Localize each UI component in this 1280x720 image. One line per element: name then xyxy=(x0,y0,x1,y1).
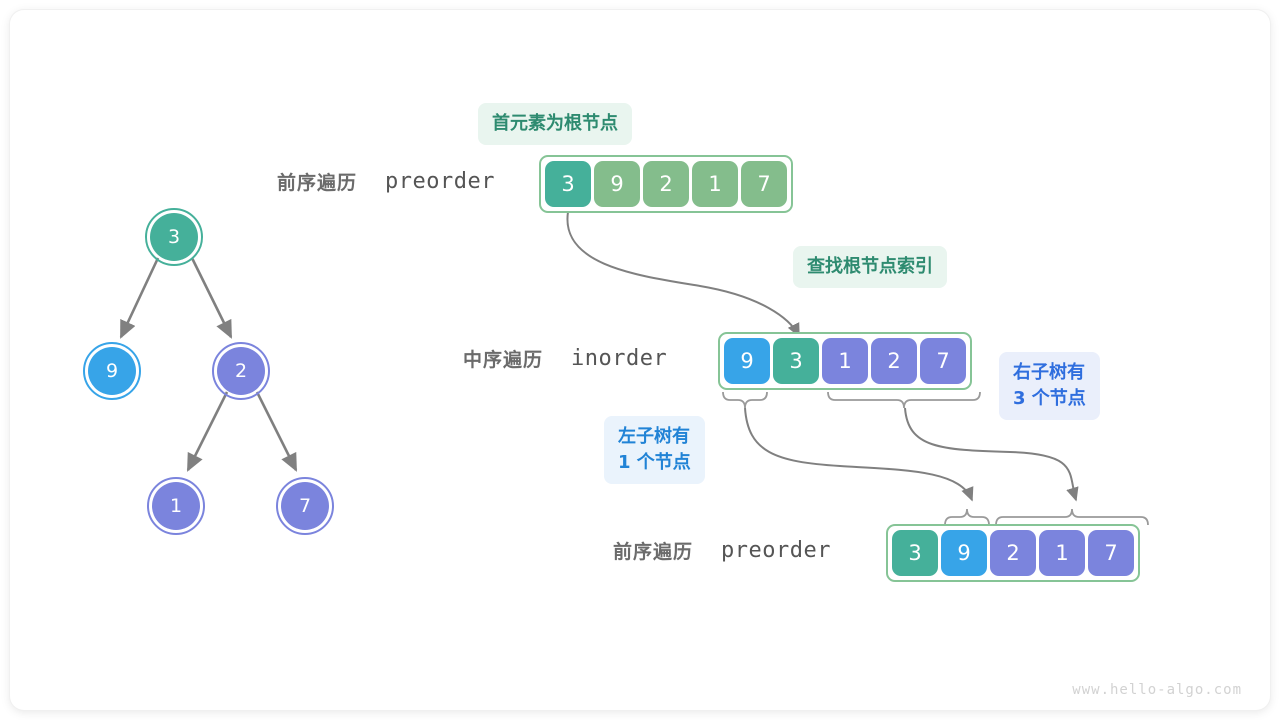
row-label-cn: 前序遍历 xyxy=(613,537,693,564)
array-cell[interactable]: 7 xyxy=(741,161,787,207)
array-cell[interactable]: 1 xyxy=(1039,530,1085,576)
array-cell[interactable]: 3 xyxy=(545,161,591,207)
array-cell-value: 1 xyxy=(1055,541,1068,565)
callout-root-first: 首元素为根节点 xyxy=(478,103,632,145)
array-cell-value: 7 xyxy=(757,172,770,196)
row-label-en: inorder xyxy=(571,346,667,371)
inorder-labels: 中序遍历 inorder xyxy=(463,345,667,372)
array-cell-value: 9 xyxy=(740,349,753,373)
tree-node-2: 2 xyxy=(217,347,265,395)
array-cell-value: 9 xyxy=(610,172,623,196)
inorder-array: 9 3 1 2 7 xyxy=(718,332,972,390)
array-cell[interactable]: 3 xyxy=(892,530,938,576)
array-cell[interactable]: 9 xyxy=(724,338,770,384)
preorder-bottom-array: 3 9 2 1 7 xyxy=(886,524,1140,582)
tree-node-1: 1 xyxy=(152,482,200,530)
diagram-canvas: 3 9 2 1 7 前序遍历 preorder 3 9 2 1 7 xyxy=(0,0,1280,720)
preorder-top-array: 3 9 2 1 7 xyxy=(539,155,793,213)
array-cell[interactable]: 2 xyxy=(990,530,1036,576)
tree-node-label: 1 xyxy=(170,495,182,517)
array-cell-value: 3 xyxy=(561,172,574,196)
callout-right-subtree: 右子树有 3 个节点 xyxy=(999,352,1100,420)
array-cell[interactable]: 1 xyxy=(692,161,738,207)
array-cell[interactable]: 1 xyxy=(822,338,868,384)
tree-node-9: 9 xyxy=(88,347,136,395)
array-cell-value: 2 xyxy=(659,172,672,196)
array-cell-value: 7 xyxy=(1104,541,1117,565)
row-label-cn: 中序遍历 xyxy=(463,345,543,372)
array-cell-value: 1 xyxy=(838,349,851,373)
tree-node-label: 9 xyxy=(106,360,118,382)
watermark: www.hello-algo.com xyxy=(1072,682,1242,698)
callout-find-root-index: 查找根节点索引 xyxy=(793,246,947,288)
array-cell-value: 3 xyxy=(908,541,921,565)
tree-node-label: 7 xyxy=(299,495,311,517)
tree-node-3: 3 xyxy=(150,213,198,261)
array-cell-value: 1 xyxy=(708,172,721,196)
preorder-top-labels: 前序遍历 preorder xyxy=(277,168,495,195)
tree-node-label: 2 xyxy=(235,360,247,382)
tree-node-7: 7 xyxy=(281,482,329,530)
array-cell[interactable]: 9 xyxy=(941,530,987,576)
tree-node-label: 3 xyxy=(168,226,180,248)
array-cell-value: 9 xyxy=(957,541,970,565)
array-cell[interactable]: 9 xyxy=(594,161,640,207)
array-cell-value: 2 xyxy=(887,349,900,373)
row-label-en: preorder xyxy=(721,538,831,563)
preorder-bottom-labels: 前序遍历 preorder xyxy=(613,537,831,564)
array-cell[interactable]: 7 xyxy=(920,338,966,384)
row-label-en: preorder xyxy=(385,169,495,194)
callout-left-subtree: 左子树有 1 个节点 xyxy=(604,416,705,484)
array-cell[interactable]: 2 xyxy=(643,161,689,207)
row-label-cn: 前序遍历 xyxy=(277,168,357,195)
array-cell-value: 2 xyxy=(1006,541,1019,565)
array-cell[interactable]: 2 xyxy=(871,338,917,384)
array-cell-value: 7 xyxy=(936,349,949,373)
array-cell[interactable]: 3 xyxy=(773,338,819,384)
array-cell[interactable]: 7 xyxy=(1088,530,1134,576)
array-cell-value: 3 xyxy=(789,349,802,373)
